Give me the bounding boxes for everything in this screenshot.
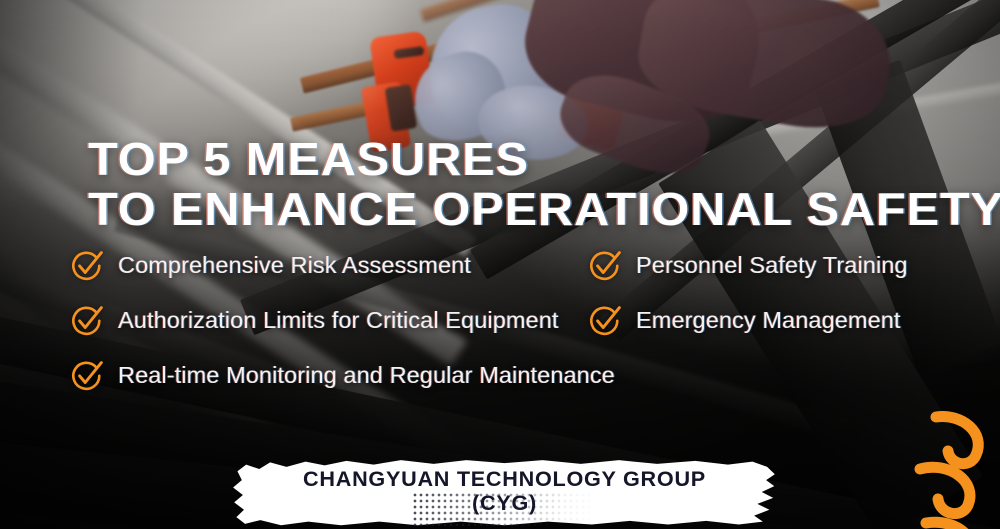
list-item: Emergency Management xyxy=(588,293,1000,348)
list-item-label: Comprehensive Risk Assessment xyxy=(118,252,471,279)
list-item: Authorization Limits for Critical Equipm… xyxy=(70,293,610,348)
list-item-label: Real-time Monitoring and Regular Mainten… xyxy=(118,362,615,389)
check-circle-icon xyxy=(70,249,104,283)
company-name-line-2: (CYG) xyxy=(472,492,537,516)
company-name-line-1: CHANGYUAN TECHNOLOGY GROUP xyxy=(303,468,706,492)
check-circle-icon xyxy=(588,304,622,338)
checklist-column-right: Personnel Safety Training Emergency Mana… xyxy=(588,238,1000,348)
list-item-label: Emergency Management xyxy=(636,307,901,334)
list-item-label: Authorization Limits for Critical Equipm… xyxy=(118,307,559,334)
headline-line-1: TOP 5 MEASURES xyxy=(88,134,1000,184)
page-title: TOP 5 MEASURES TO ENHANCE OPERATIONAL SA… xyxy=(88,134,1000,234)
check-circle-icon xyxy=(588,249,622,283)
list-item: Real-time Monitoring and Regular Mainten… xyxy=(70,348,610,403)
headline-line-2: TO ENHANCE OPERATIONAL SAFETY xyxy=(88,184,1000,234)
list-item: Personnel Safety Training xyxy=(588,238,1000,293)
check-circle-icon xyxy=(70,304,104,338)
checklist-column-left: Comprehensive Risk Assessment Authorizat… xyxy=(70,238,610,403)
list-item: Comprehensive Risk Assessment xyxy=(70,238,610,293)
list-item-label: Personnel Safety Training xyxy=(636,252,908,279)
company-name-banner: CHANGYUAN TECHNOLOGY GROUP (CYG) xyxy=(232,455,777,529)
banner-text: CHANGYUAN TECHNOLOGY GROUP (CYG) xyxy=(224,455,785,529)
check-circle-icon xyxy=(70,359,104,393)
safety-poster: TOP 5 MEASURES TO ENHANCE OPERATIONAL SA… xyxy=(0,0,1000,529)
